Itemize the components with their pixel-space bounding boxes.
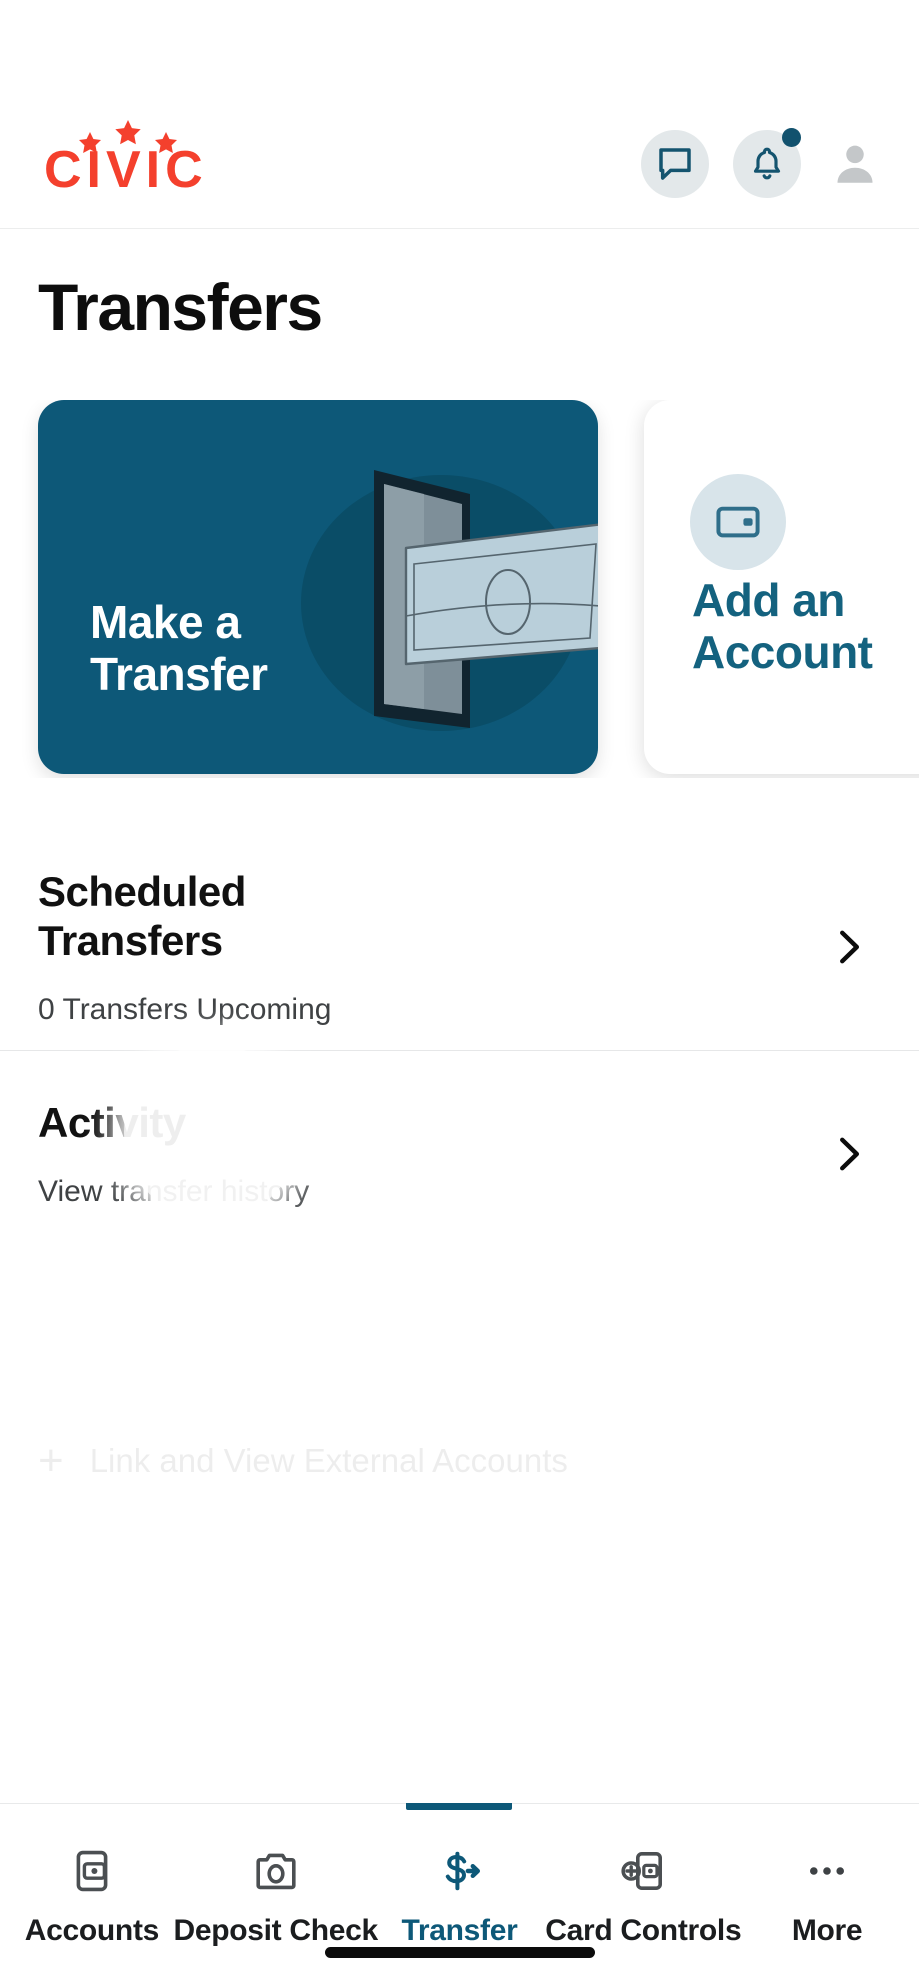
logo-wordmark: CIVIC bbox=[44, 144, 208, 196]
phone-card-icon bbox=[68, 1844, 116, 1898]
promo-carousel[interactable]: Make a Transfer Add an Account bbox=[0, 400, 919, 778]
bell-icon bbox=[747, 144, 787, 184]
row-title: Scheduled Transfers bbox=[38, 867, 825, 966]
promo-card-title: Add an Account bbox=[692, 575, 873, 678]
card-badge-icon bbox=[713, 497, 763, 547]
tab-label: Deposit Check bbox=[173, 1914, 378, 1948]
row-activity[interactable]: Activity View transfer history bbox=[0, 1050, 919, 1256]
active-tab-indicator bbox=[406, 1803, 512, 1810]
row-text: Activity View transfer history bbox=[38, 1098, 825, 1210]
profile-button[interactable] bbox=[825, 130, 885, 198]
row-subtitle: View transfer history bbox=[38, 1174, 825, 1210]
row-title: Activity bbox=[38, 1098, 825, 1148]
plus-icon: + bbox=[38, 1439, 64, 1483]
tab-label: Accounts bbox=[25, 1914, 159, 1948]
card-badge bbox=[690, 474, 786, 570]
camera-icon bbox=[252, 1844, 300, 1898]
promo-card-add-account[interactable]: Add an Account bbox=[644, 400, 919, 774]
notifications-button[interactable] bbox=[733, 130, 801, 198]
page-content: Transfers bbox=[0, 228, 919, 1980]
header-actions bbox=[641, 130, 885, 198]
home-indicator bbox=[325, 1947, 595, 1958]
tab-label: More bbox=[792, 1914, 862, 1948]
notification-badge bbox=[782, 128, 801, 147]
status-bar-area bbox=[0, 0, 919, 100]
phone-with-cash-illustration bbox=[256, 428, 598, 758]
tab-more[interactable]: More bbox=[735, 1804, 919, 1980]
promo-card-title: Make a Transfer bbox=[90, 597, 268, 700]
speech-bubble-icon bbox=[655, 144, 695, 184]
page-title: Transfers bbox=[0, 229, 919, 342]
transfer-options-list: Scheduled Transfers 0 Transfers Upcoming… bbox=[0, 844, 919, 1256]
row-scheduled-transfers[interactable]: Scheduled Transfers 0 Transfers Upcoming bbox=[0, 844, 919, 1050]
app-header: CIVIC bbox=[0, 100, 919, 228]
chevron-right-icon bbox=[825, 1131, 871, 1177]
tab-label: Card Controls bbox=[545, 1914, 741, 1948]
dollar-arrow-icon bbox=[435, 1844, 483, 1898]
card-plus-icon bbox=[619, 1844, 667, 1898]
row-text: Scheduled Transfers 0 Transfers Upcoming bbox=[38, 867, 825, 1028]
tab-accounts[interactable]: Accounts bbox=[0, 1804, 184, 1980]
promo-card-make-transfer[interactable]: Make a Transfer bbox=[38, 400, 598, 774]
carousel-track: Make a Transfer Add an Account bbox=[38, 400, 919, 774]
tab-label: Transfer bbox=[401, 1914, 517, 1948]
ellipsis-icon bbox=[803, 1844, 851, 1898]
app-screen: CIVIC bbox=[0, 0, 919, 1980]
messages-button[interactable] bbox=[641, 130, 709, 198]
row-subtitle: 0 Transfers Upcoming bbox=[38, 992, 825, 1028]
person-icon bbox=[830, 139, 880, 189]
chevron-right-icon bbox=[825, 924, 871, 970]
civic-logo[interactable]: CIVIC bbox=[44, 118, 234, 210]
link-external-accounts-label: Link and View External Accounts bbox=[90, 1442, 568, 1480]
link-external-accounts-item[interactable]: + Link and View External Accounts bbox=[38, 1439, 568, 1483]
